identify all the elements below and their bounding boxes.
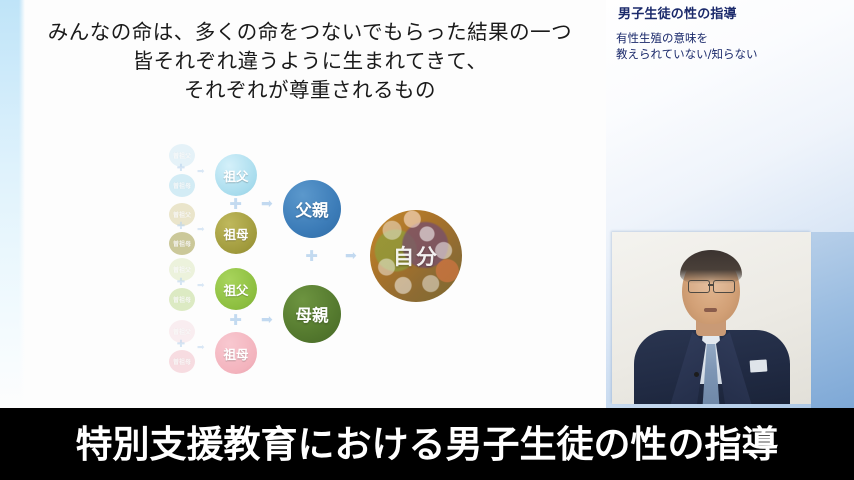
plus-icon-anc-1: ✚: [176, 164, 186, 174]
parent-circle-father: 父親: [283, 180, 341, 238]
plus-icon-anc-2: ✚: [176, 222, 186, 232]
bottom-title-banner: 特別支援教育における男子生徒の性の指導: [0, 408, 854, 480]
slide-heading-text: みんなの命は、多くの命をつないでもらった結果の一つ 皆それぞれ違うように生まれて…: [30, 18, 590, 105]
arrow-icon-gp-1: ➡: [261, 196, 273, 210]
presentation-slide: みんなの命は、多くの命をつないでもらった結果の一つ 皆それぞれ違うように生まれて…: [0, 0, 606, 408]
self-circle: 自分: [370, 210, 462, 302]
grandparent-circle-paternal-grandmother: 祖母: [215, 212, 257, 254]
plus-icon-gp-1: ✚: [229, 198, 242, 211]
ancestor-circle-2: 曽祖母: [169, 174, 195, 197]
right-panel-title: 男子生徒の性の指導: [618, 3, 846, 22]
plus-icon-anc-3: ✚: [176, 278, 186, 288]
ancestor-circle-8: 曽祖母: [169, 350, 195, 373]
arrow-icon-anc-4: ➡: [197, 340, 205, 354]
plus-icon-parents: ✚: [305, 250, 318, 263]
arrow-icon-to-self: ➡: [345, 248, 357, 262]
family-lineage-diagram: 曽祖父 曽祖母 曽祖父 曽祖母 曽祖父 曽祖母 曽祖父 曽祖母 ✚ ✚ ✚ ✚ …: [165, 140, 495, 395]
presenter-glasses-bridge: [708, 284, 713, 286]
plus-icon-gp-2: ✚: [229, 314, 242, 327]
arrow-icon-anc-1: ➡: [197, 164, 205, 178]
right-info-panel: 男子生徒の性の指導 有性生殖の意味を 教えられていない/知らない: [606, 0, 854, 408]
arrow-icon-anc-3: ➡: [197, 278, 205, 292]
self-circle-label: 自分: [393, 241, 439, 271]
presenter-glasses-right-lens: [713, 280, 735, 293]
video-player-stage: みんなの命は、多くの命をつないでもらった結果の一つ 皆それぞれ違うように生まれて…: [0, 0, 854, 480]
right-panel-subtitle: 有性生殖の意味を 教えられていない/知らない: [616, 30, 848, 63]
presenter-video: [612, 232, 811, 404]
bottom-banner-title: 特別支援教育における男子生徒の性の指導: [76, 426, 779, 463]
ancestor-circle-4: 曽祖母: [169, 232, 195, 255]
plus-icon-anc-4: ✚: [176, 340, 186, 350]
grandparent-circle-paternal-grandfather: 祖父: [215, 154, 257, 196]
slide-left-accent-stripe: [0, 0, 25, 408]
grandparent-circle-maternal-grandmother: 祖母: [215, 332, 257, 374]
presenter-pocket-square: [750, 359, 768, 372]
presenter-glasses-left-lens: [688, 280, 710, 293]
presenter-mouth: [704, 308, 717, 312]
arrow-icon-gp-2: ➡: [261, 312, 273, 326]
ancestor-circle-6: 曽祖母: [169, 288, 195, 311]
arrow-icon-anc-2: ➡: [197, 222, 205, 236]
presenter-lapel-microphone: [694, 372, 699, 377]
parent-circle-mother: 母親: [283, 285, 341, 343]
panel-blue-band: [811, 232, 854, 408]
grandparent-circle-maternal-grandfather: 祖父: [215, 268, 257, 310]
